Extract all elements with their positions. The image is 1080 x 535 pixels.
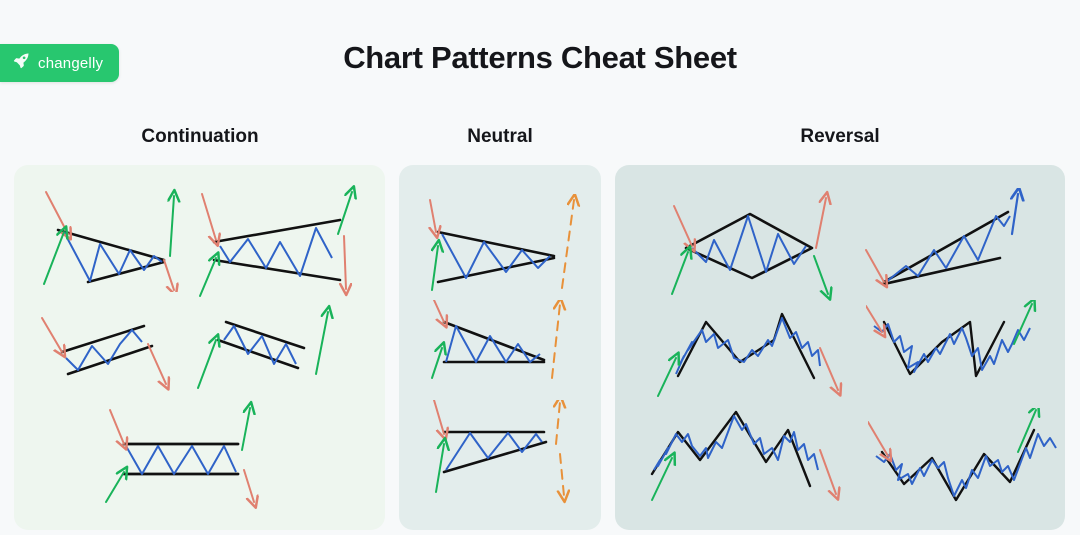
pattern-ascending-triangle-neutral [420, 400, 585, 510]
pattern-broadening-formation [192, 184, 367, 299]
column-heading-neutral: Neutral [400, 126, 600, 148]
pattern-double-top [648, 300, 848, 400]
pattern-head-and-shoulders [638, 408, 853, 508]
page-title: Chart Patterns Cheat Sheet [0, 40, 1080, 76]
pattern-double-bottom [866, 300, 1056, 400]
column-heading-reversal: Reversal [615, 126, 1065, 148]
pattern-diamond-top [648, 190, 848, 305]
pattern-rising-wedge-breakout [860, 188, 1045, 303]
pattern-rectangle-range [92, 394, 272, 509]
column-heading-continuation: Continuation [15, 126, 385, 148]
pattern-falling-channel-bull-flag [192, 302, 347, 397]
pattern-descending-triangle-neutral [420, 300, 585, 400]
pattern-inverse-head-and-shoulders [868, 408, 1068, 508]
pattern-rising-channel-bear-flag [36, 304, 186, 396]
pattern-symmetrical-triangle [34, 182, 194, 292]
pattern-symmetrical-triangle-neutral [420, 194, 585, 294]
